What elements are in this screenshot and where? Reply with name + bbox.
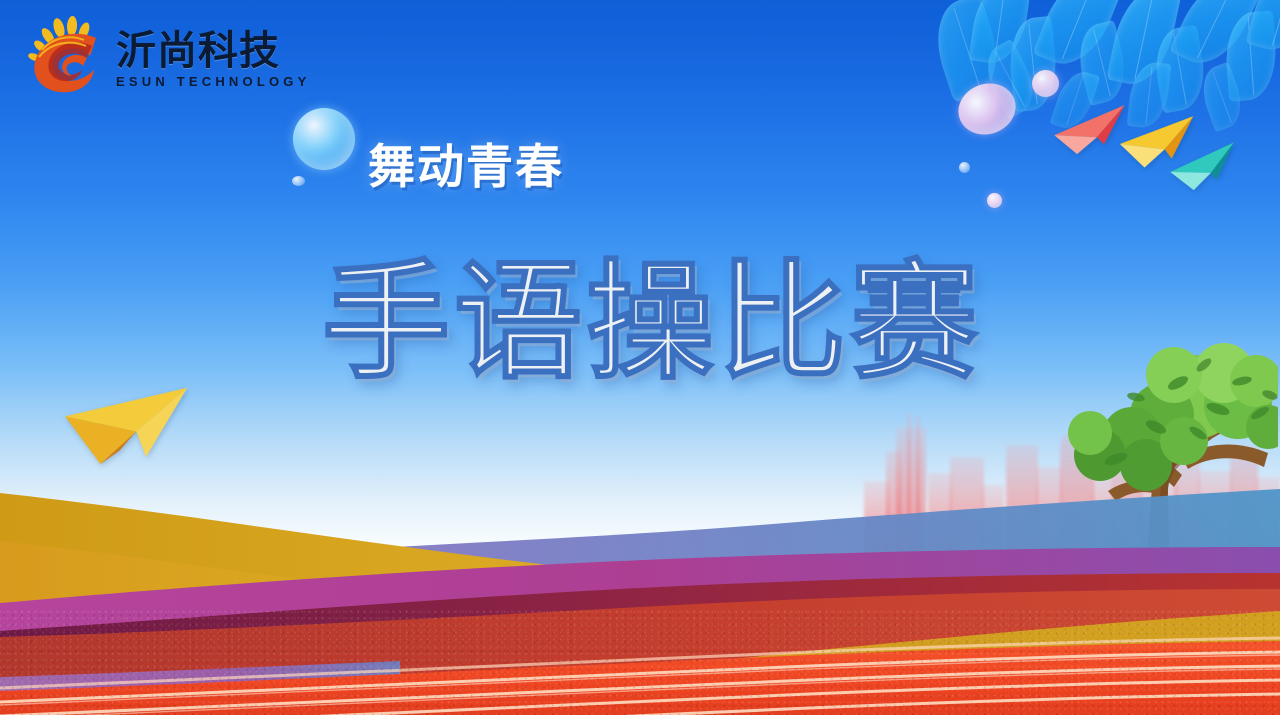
bubble-dot-icon (959, 162, 970, 173)
paper-plane-teal-icon (1165, 140, 1244, 196)
paper-plane-red-icon (1049, 103, 1133, 159)
bubble-pink-large-icon (951, 76, 1023, 143)
bubble-cyan-icon (293, 108, 355, 170)
brand-logo[interactable]: 沂尚科技 ESUN TECHNOLOGY (18, 16, 310, 98)
bubble-dot-pink-icon (987, 193, 1002, 208)
paper-plane-yellow-small-icon (1116, 114, 1201, 172)
ground-waves (0, 375, 1280, 715)
leaf-cluster-icon (930, 0, 1280, 196)
bubble-pink-small-icon (1032, 70, 1059, 97)
poster-subtitle: 舞动青春 (368, 128, 564, 197)
brand-name-en: ESUN TECHNOLOGY (116, 75, 310, 88)
bubble-tiny-icon (292, 176, 305, 186)
poster-canvas: 沂尚科技 ESUN TECHNOLOGY 舞动青春 手语操比赛 (0, 0, 1280, 715)
brand-logo-text: 沂尚科技 ESUN TECHNOLOGY (116, 27, 310, 88)
brand-name-cn: 沂尚科技 (116, 31, 310, 71)
swirl-sunburst-icon (18, 16, 110, 98)
